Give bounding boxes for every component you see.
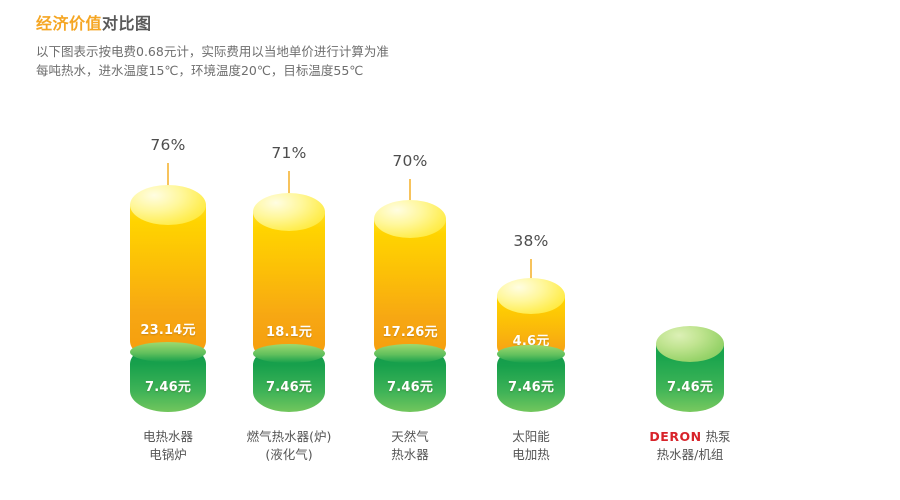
brand-suffix: 热泵 xyxy=(702,429,731,444)
segment-top-cap xyxy=(130,342,206,362)
segment-top-cap xyxy=(130,185,206,225)
bar-segment-base: 7.46元 xyxy=(497,346,565,412)
segment-top-cap xyxy=(253,344,325,363)
segment-value-label: 7.46元 xyxy=(497,376,565,395)
segment-value-label: 7.46元 xyxy=(374,376,446,395)
cylinder-bar: 7.46元 xyxy=(656,327,724,412)
bar-segment-savings: 18.1元 xyxy=(253,194,325,364)
brand-deron-tail: N xyxy=(691,429,702,444)
segment-value-label: 17.26元 xyxy=(374,321,446,340)
bar-segment-savings: 17.26元 xyxy=(374,201,446,364)
segment-value-label: 23.14元 xyxy=(130,319,206,338)
bar-caption: DERON 热泵 热水器/机组 xyxy=(590,428,790,464)
cylinder-bar: 18.1元 7.46元 xyxy=(253,194,325,412)
bar-segment-base: 7.46元 xyxy=(374,345,446,412)
bar-segment-base: 7.46元 xyxy=(656,327,724,412)
segment-top-cap xyxy=(253,193,325,231)
percent-label: 38% xyxy=(471,232,591,250)
caption-line-2: 热水器/机组 xyxy=(590,446,790,464)
segment-value-label: 7.46元 xyxy=(130,376,206,395)
segment-top-cap xyxy=(656,326,724,362)
chart-canvas: 经济价值对比图 以下图表示按电费0.68元计，实际费用以当地单价进行计算为准 每… xyxy=(0,0,900,500)
segment-top-cap xyxy=(497,345,565,363)
segment-top-cap xyxy=(497,278,565,314)
percent-label: 76% xyxy=(108,136,228,154)
segment-value-label: 18.1元 xyxy=(253,321,325,340)
segment-value-label: 7.46元 xyxy=(253,376,325,395)
cylinder-bar: 4.6元 7.46元 xyxy=(497,279,565,412)
segment-top-cap xyxy=(374,200,446,238)
caption-line-1-brand: DERON 热泵 xyxy=(590,428,790,446)
percent-label: 71% xyxy=(229,144,349,162)
segment-value-label: 7.46元 xyxy=(656,376,724,395)
brand-deron-prefix: DER xyxy=(649,429,679,444)
cylinder-bar: 23.14元 7.46元 xyxy=(130,186,206,412)
cylinder-bar: 17.26元 7.46元 xyxy=(374,201,446,412)
segment-top-cap xyxy=(374,344,446,363)
chart-plot-area: 76% 23.14元 7.46元 电热水器 电锅炉 xyxy=(0,0,900,500)
percent-label: 70% xyxy=(350,152,470,170)
bar-segment-base: 7.46元 xyxy=(253,345,325,412)
bar-segment-savings: 23.14元 xyxy=(130,186,206,362)
bar-segment-base: 7.46元 xyxy=(130,343,206,412)
sun-icon: O xyxy=(679,429,690,444)
